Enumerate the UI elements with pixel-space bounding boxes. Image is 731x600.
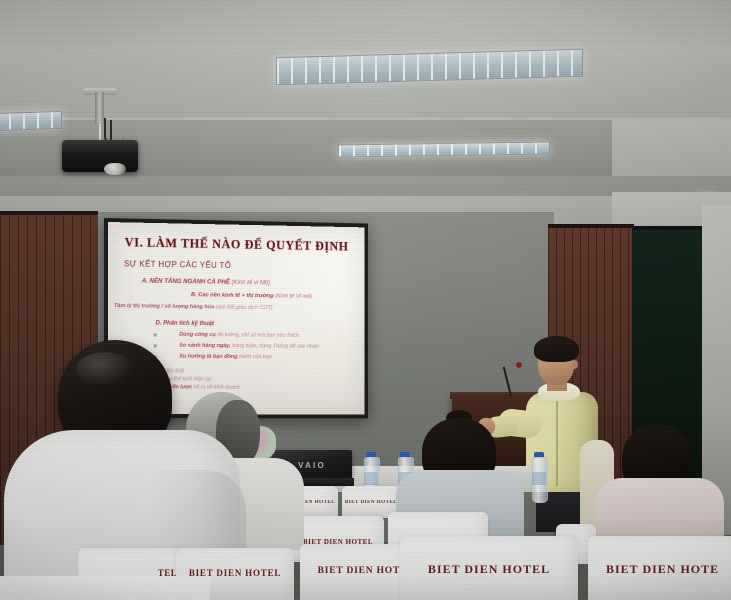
bullet-marker-icon bbox=[154, 344, 157, 347]
slide-item-a-note: (Kinh tế vi Mô) bbox=[231, 279, 270, 286]
bullet-rest: đo lường, chỉ số mà bạn yêu thích bbox=[217, 333, 299, 340]
front-table-cloth bbox=[0, 576, 210, 600]
projector-lens-icon bbox=[104, 163, 126, 175]
tail-rest: vị thế kinh hiện tại. bbox=[169, 377, 213, 383]
slide-item-c-note: cam kết giao dịch COT) bbox=[216, 305, 273, 312]
chair-cover-label: BIET DIEN HOTEL bbox=[400, 562, 578, 577]
chair-cover-label: BIET DIEN HOTE bbox=[588, 562, 731, 577]
slide-item-b-label: B. Các nền kinh tế + thị trường bbox=[191, 293, 274, 300]
slide-bullet-list: Dùng công cụ đo lường, chỉ số mà bạn yêu… bbox=[154, 332, 359, 362]
slide-item-c: Tâm lý thị trường / số lượng hàng hóa ca… bbox=[114, 303, 359, 313]
bottle-label bbox=[532, 472, 546, 485]
troffer-slats bbox=[0, 112, 61, 130]
slide-subtitle: SỰ KẾT HỢP CÁC YẾU TỐ bbox=[124, 259, 359, 272]
slide-item-b: B. Các nền kinh tế + thị trường (Kinh tế… bbox=[191, 293, 359, 303]
chair-cover-label: BIET DIEN HOTEL bbox=[342, 500, 400, 505]
slide-title: VI. LÀM THẾ NÀO ĐỂ QUYẾT ĐỊNH bbox=[114, 235, 359, 254]
chair-cover: BIET DIEN HOTE bbox=[588, 536, 731, 600]
slide-bullet: So sánh hàng ngày, hàng tuần, hàng Tháng… bbox=[154, 342, 359, 351]
photo-scene: VI. LÀM THẾ NÀO ĐỂ QUYẾT ĐỊNH SỰ KẾT HỢP… bbox=[0, 0, 731, 600]
slide-bullet: Xu hướng là bạn đồng hành của bạn bbox=[154, 353, 359, 362]
slide-item-d: D. Phân tích kỹ thuật bbox=[156, 321, 359, 329]
ceiling-projector bbox=[62, 140, 138, 172]
presenter-hair bbox=[534, 336, 579, 362]
bullet-rest: hàng tuần, hàng Tháng để xác nhận bbox=[232, 343, 319, 350]
slide-item-a-label: A. NỀN TẢNG NGÀNH CÀ PHÊ bbox=[142, 278, 230, 286]
slide-item-c-label: Tâm lý thị trường / số lượng hàng hóa bbox=[114, 303, 214, 310]
troffer-slats bbox=[339, 143, 549, 157]
fluorescent-troffer-light-left bbox=[0, 111, 62, 131]
bullet-strong: So sánh hàng ngày, bbox=[179, 343, 230, 349]
chair-cover: BIET DIEN HOTEL bbox=[400, 536, 578, 600]
slide-item-b-note: (Kinh tế Vĩ mô) bbox=[275, 294, 312, 300]
tail-rest: và ra nh kinh doanh bbox=[194, 385, 240, 391]
slide-bullet: Dùng công cụ đo lường, chỉ số mà bạn yêu… bbox=[154, 332, 359, 341]
projector-mount-pole bbox=[95, 92, 104, 124]
bullet-marker-icon bbox=[154, 334, 157, 337]
bullet-rest: hành của bạn bbox=[239, 354, 272, 360]
presenter-ear bbox=[572, 360, 578, 369]
water-bottle bbox=[532, 452, 546, 502]
slide-item-a: A. NỀN TẢNG NGÀNH CÀ PHÊ (Kinh tế vi Mô) bbox=[142, 278, 359, 290]
bullet-strong: Dùng công cụ bbox=[179, 332, 216, 338]
bottle-label bbox=[364, 472, 378, 485]
presenter-shirt-placket bbox=[556, 400, 558, 486]
foreground-attendee-hair-sheen bbox=[76, 352, 134, 386]
bullet-strong: Xu hướng là bạn đồng bbox=[179, 353, 237, 359]
